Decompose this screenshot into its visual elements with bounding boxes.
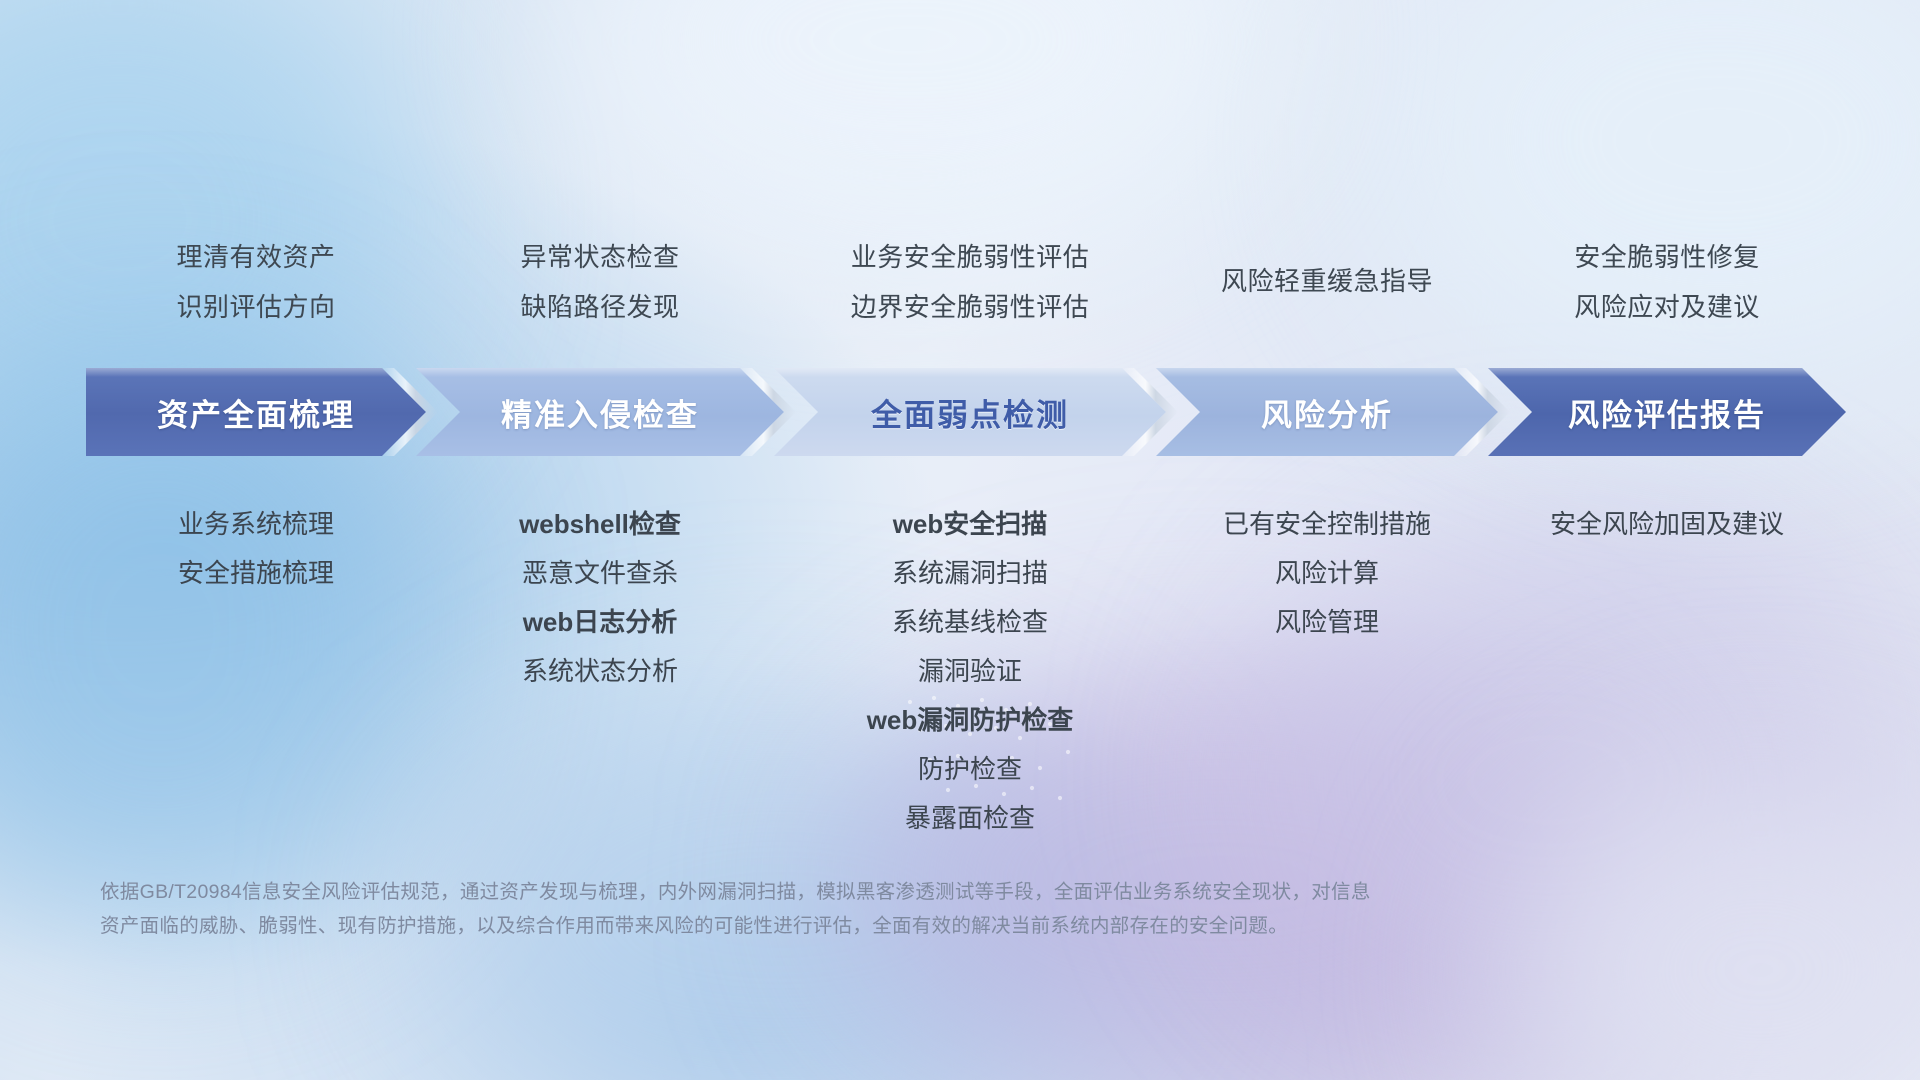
- stage-label-5: 风险评估报告: [1568, 390, 1766, 435]
- stage-label-3: 全面弱点检测: [871, 390, 1069, 435]
- footer-line-1: 依据GB/T20984信息安全风险评估规范，通过资产发现与梳理，内外网漏洞扫描，…: [100, 875, 1620, 909]
- top-note: 业务安全脆弱性评估: [770, 232, 1170, 282]
- bottom-item: 漏洞验证: [760, 647, 1180, 696]
- top-notes-column-5: 安全脆弱性修复风险应对及建议: [1467, 232, 1867, 332]
- bottom-item: 安全风险加固及建议: [1457, 500, 1877, 549]
- bottom-items-column-2: webshell检查恶意文件查杀web日志分析系统状态分析: [390, 500, 810, 696]
- bottom-item: web漏洞防护检查: [760, 696, 1180, 745]
- bottom-item: 风险管理: [1117, 598, 1537, 647]
- stage-arrow-4[interactable]: 风险分析: [1156, 368, 1498, 456]
- top-note: 理清有效资产: [56, 232, 456, 282]
- footer-line-2: 资产面临的威胁、脆弱性、现有防护措施，以及综合作用而带来风险的可能性进行评估，全…: [100, 909, 1620, 943]
- bottom-item: webshell检查: [390, 500, 810, 549]
- top-note: 异常状态检查: [400, 232, 800, 282]
- stage-arrow-5[interactable]: 风险评估报告: [1488, 368, 1846, 456]
- stage-arrow-3[interactable]: 全面弱点检测: [774, 368, 1166, 456]
- slide-canvas: 理清有效资产识别评估方向异常状态检查缺陷路径发现业务安全脆弱性评估边界安全脆弱性…: [0, 0, 1920, 1080]
- bottom-item: 暴露面检查: [760, 794, 1180, 843]
- bottom-items-column-5: 安全风险加固及建议: [1457, 500, 1877, 549]
- process-arrow-banner: 资产全面梳理 精准入侵检查 全面弱点检测 风险分析 风险评估报告: [86, 368, 1846, 456]
- bottom-item: 防护检查: [760, 745, 1180, 794]
- top-note: 缺陷路径发现: [400, 282, 800, 332]
- top-note: 边界安全脆弱性评估: [770, 282, 1170, 332]
- bottom-item: 恶意文件查杀: [390, 549, 810, 598]
- bottom-item: 系统状态分析: [390, 647, 810, 696]
- top-note: 风险应对及建议: [1467, 282, 1867, 332]
- top-notes-column-1: 理清有效资产识别评估方向: [56, 232, 456, 332]
- stage-label-1: 资产全面梳理: [157, 390, 355, 435]
- stage-arrow-1[interactable]: 资产全面梳理: [86, 368, 426, 456]
- footer-description: 依据GB/T20984信息安全风险评估规范，通过资产发现与梳理，内外网漏洞扫描，…: [100, 875, 1620, 943]
- bottom-item: 风险计算: [1117, 549, 1537, 598]
- top-note: 安全脆弱性修复: [1467, 232, 1867, 282]
- stage-label-4: 风险分析: [1261, 390, 1393, 435]
- top-note: 识别评估方向: [56, 282, 456, 332]
- stage-label-2: 精准入侵检查: [501, 390, 699, 435]
- top-notes-row: 理清有效资产识别评估方向异常状态检查缺陷路径发现业务安全脆弱性评估边界安全脆弱性…: [0, 232, 1920, 344]
- top-notes-column-2: 异常状态检查缺陷路径发现: [400, 232, 800, 332]
- top-notes-column-3: 业务安全脆弱性评估边界安全脆弱性评估: [770, 232, 1170, 332]
- bottom-item: web日志分析: [390, 598, 810, 647]
- stage-arrow-2[interactable]: 精准入侵检查: [416, 368, 784, 456]
